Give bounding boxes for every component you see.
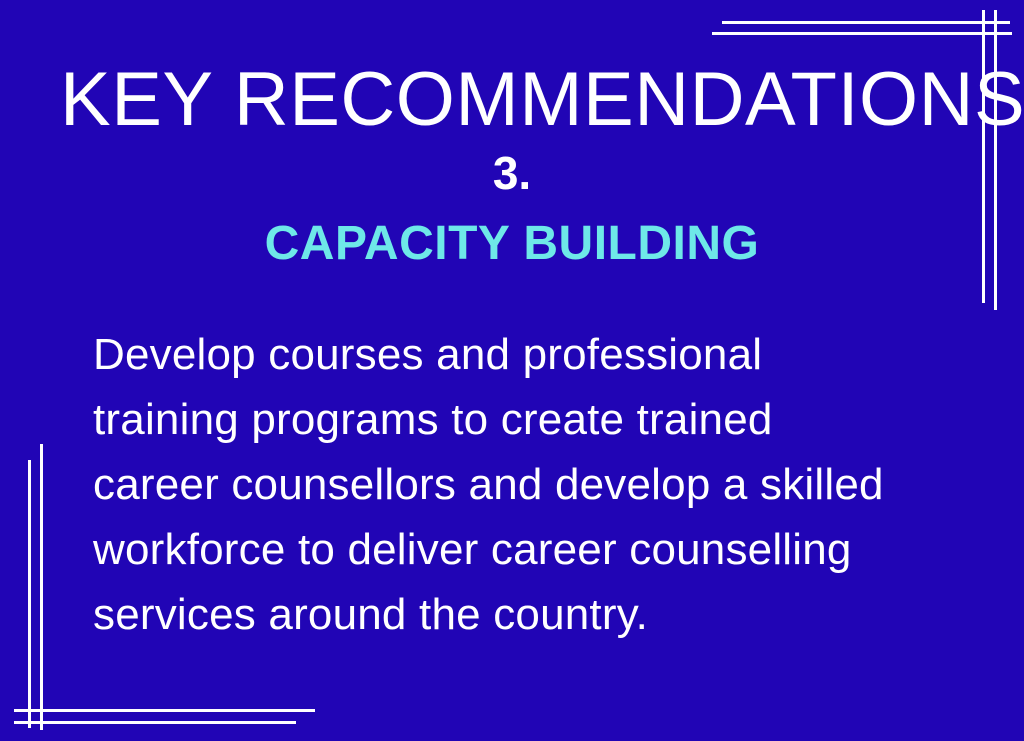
corner-frame-bottom-left-horizontal-inner [14,709,315,712]
corner-frame-bottom-left-vertical-inner [40,444,43,730]
slide-canvas: KEY RECOMMENDATIONS 3. CAPACITY BUILDING… [0,0,1024,741]
corner-frame-bottom-left-horizontal-outer [14,721,296,724]
recommendation-number: 3. [0,150,1024,196]
corner-frame-top-right-horizontal-outer [722,21,1010,24]
corner-frame-bottom-left-vertical-outer [28,460,31,728]
slide-body-text: Develop courses and professional trainin… [93,322,893,647]
corner-frame-top-right-horizontal-inner [712,32,1012,35]
slide-title: KEY RECOMMENDATIONS [60,62,960,138]
slide-subtitle: CAPACITY BUILDING [0,220,1024,268]
